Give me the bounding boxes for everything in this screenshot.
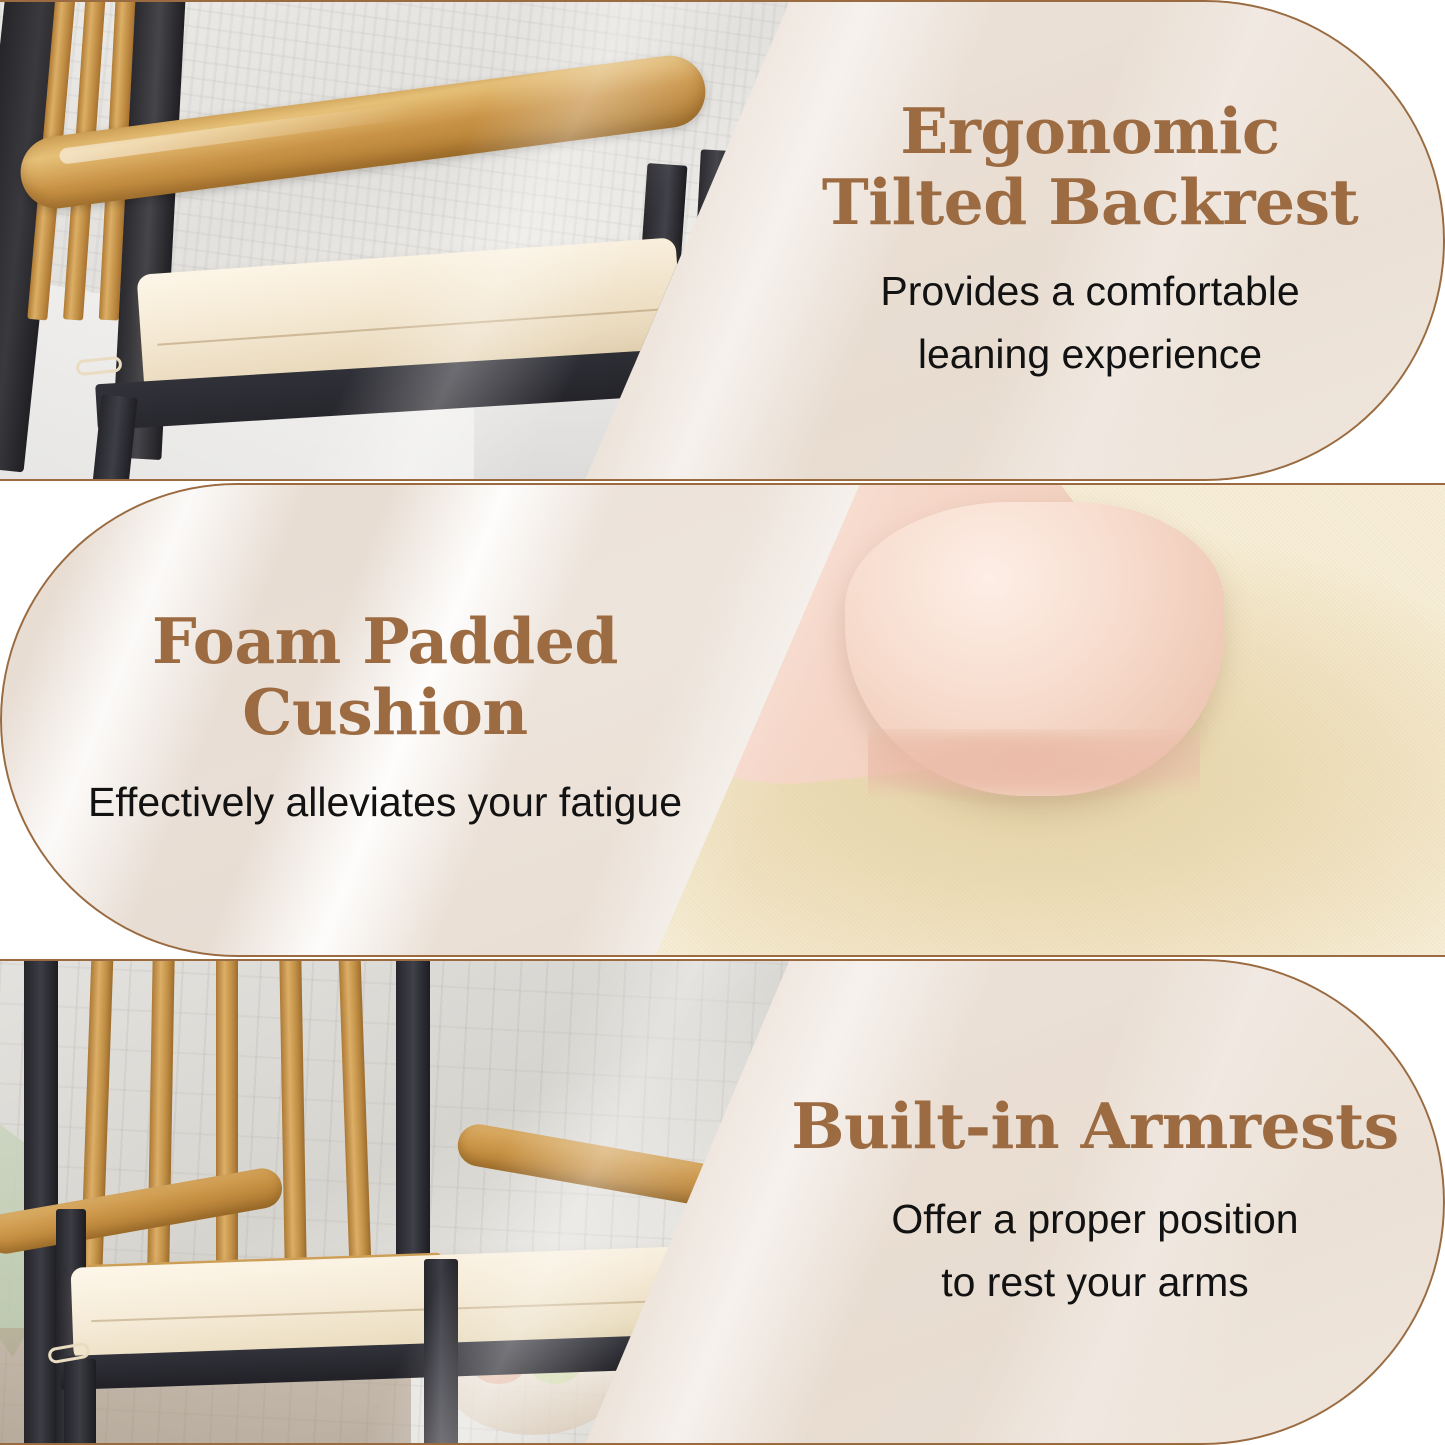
- feature-subtitle-line-1: Offer a proper position: [891, 1196, 1298, 1242]
- feature-subtitle-line-1: Effectively alleviates your fatigue: [88, 779, 682, 825]
- feature-subtitle-3: Offer a proper position to rest your arm…: [891, 1188, 1298, 1313]
- feature-subtitle-1: Provides a comfortable leaning experienc…: [880, 260, 1299, 385]
- feature-text-block-3: Built-in Armrests Offer a proper positio…: [745, 959, 1445, 1445]
- feature-subtitle-line-1: Provides a comfortable: [880, 268, 1299, 314]
- feature-heading-line-2: Tilted Backrest: [822, 165, 1358, 239]
- feature-heading-line-2: Cushion: [242, 675, 527, 749]
- feature-subtitle-line-2: leaning experience: [918, 331, 1262, 377]
- feature-panel-foam-padded-cushion: Foam Padded Cushion Effectively alleviat…: [0, 483, 1445, 957]
- feature-panel-built-in-armrests: Built-in Armrests Offer a proper positio…: [0, 959, 1445, 1445]
- feature-heading-line-1: Built-in Armrests: [791, 1089, 1398, 1163]
- feature-heading-3: Built-in Armrests: [791, 1091, 1398, 1162]
- feature-heading-1: Ergonomic Tilted Backrest: [822, 96, 1358, 238]
- feature-heading-line-1: Foam Padded: [152, 604, 618, 678]
- feature-heading-line-1: Ergonomic: [900, 94, 1280, 168]
- infographic-board: Ergonomic Tilted Backrest Provides a com…: [0, 0, 1445, 1445]
- feature-heading-2: Foam Padded Cushion: [152, 606, 618, 748]
- feature-panel-ergonomic-tilted-backrest: Ergonomic Tilted Backrest Provides a com…: [0, 0, 1445, 481]
- feature-subtitle-line-2: to rest your arms: [941, 1259, 1249, 1305]
- feature-text-block-2: Foam Padded Cushion Effectively alleviat…: [0, 483, 770, 957]
- feature-subtitle-2: Effectively alleviates your fatigue: [88, 772, 682, 834]
- feature-text-block-1: Ergonomic Tilted Backrest Provides a com…: [735, 0, 1445, 481]
